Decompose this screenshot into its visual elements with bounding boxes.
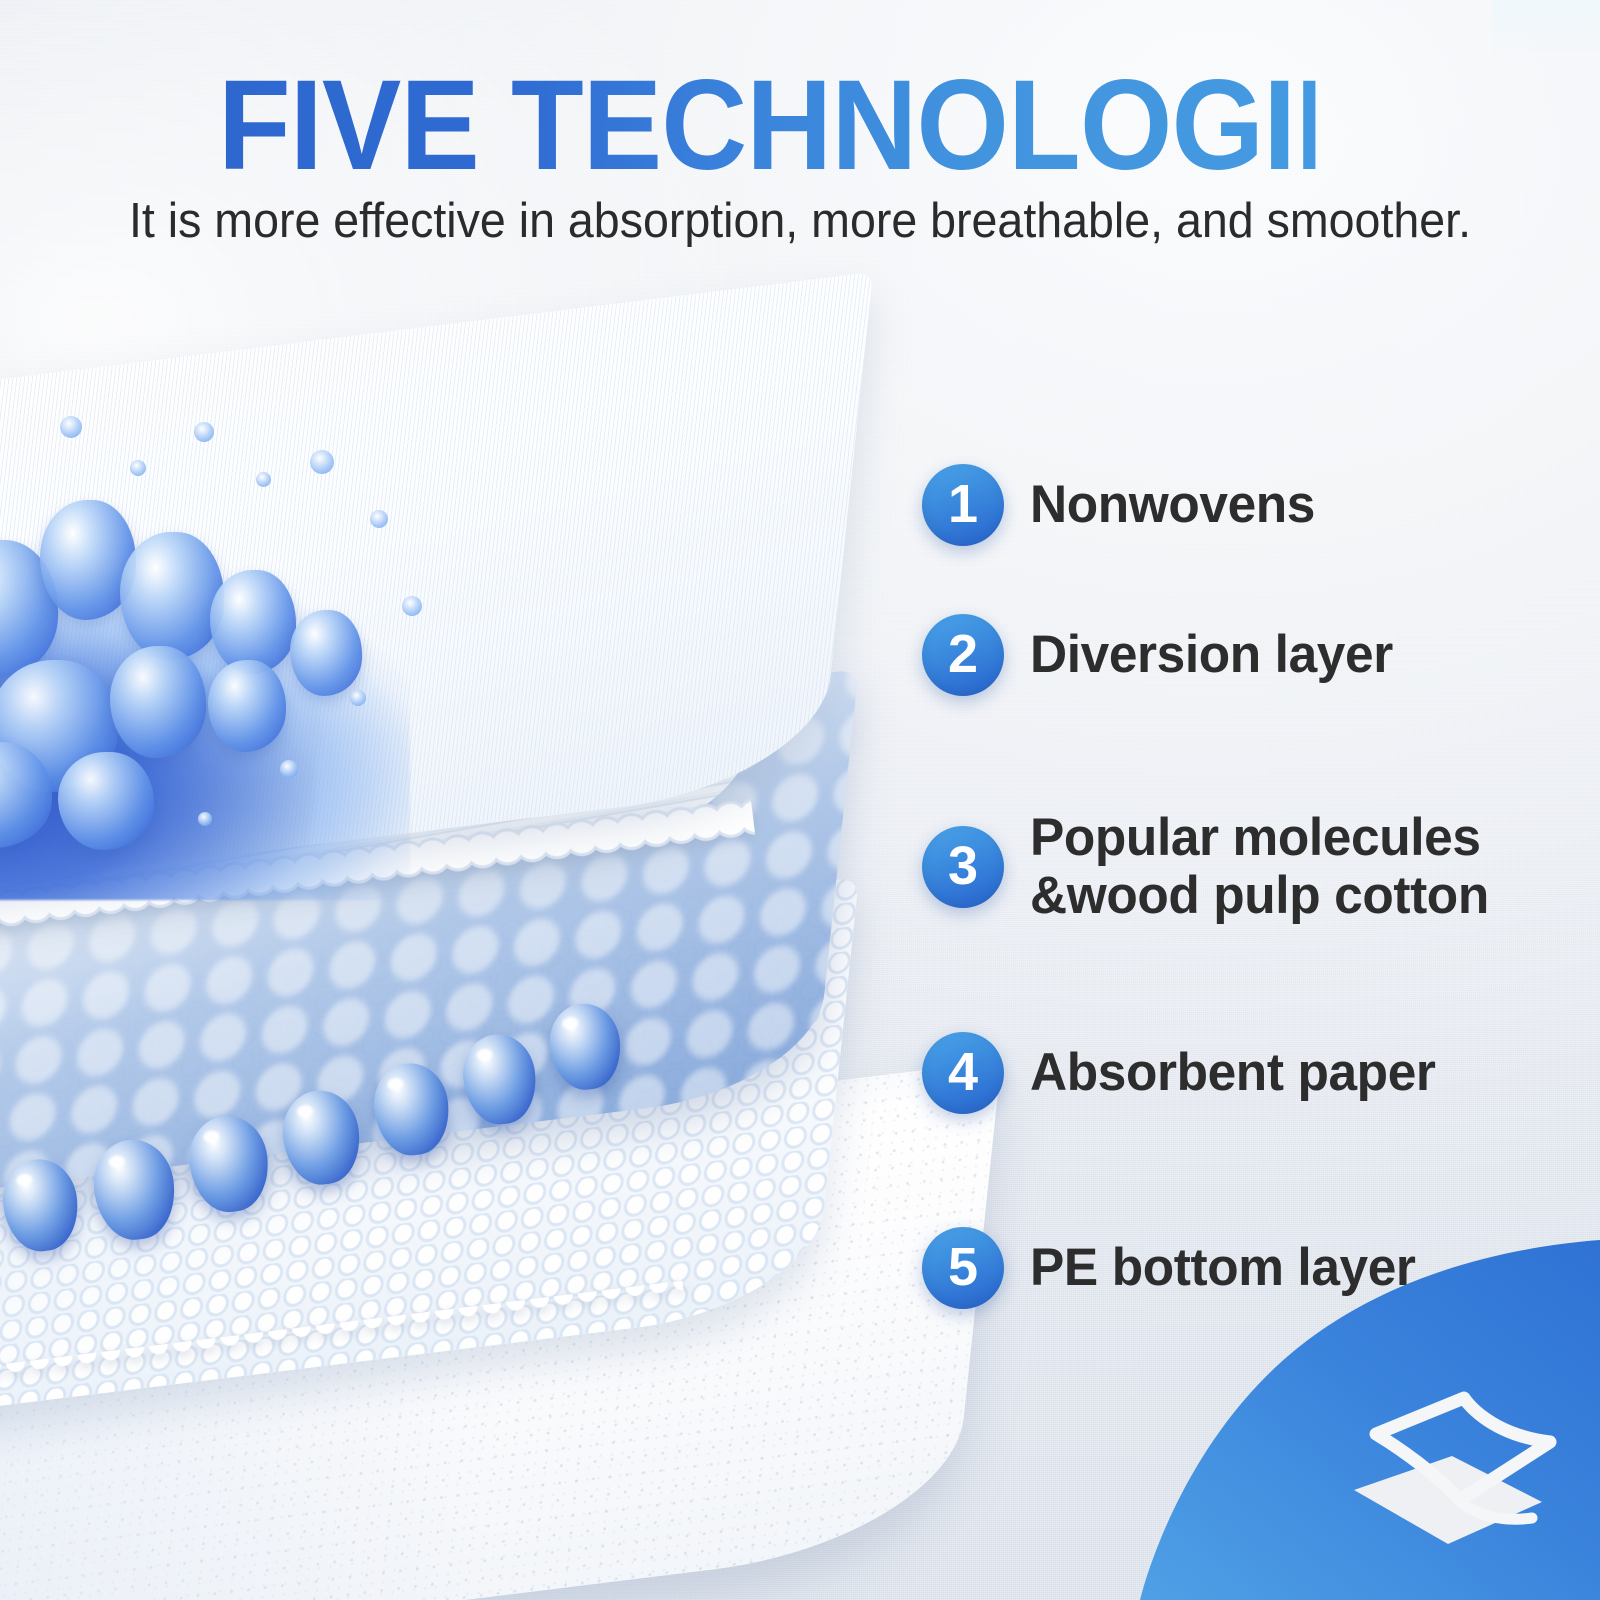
legend-number-badge-2: 2 — [922, 614, 1004, 696]
legend-label-2: Diversion layer — [1030, 626, 1393, 684]
legend-number-badge-3: 3 — [922, 826, 1004, 908]
water-blob — [210, 570, 296, 674]
water-droplet — [350, 690, 366, 706]
legend-label-4: Absorbent paper — [1030, 1044, 1436, 1102]
legend-item-diversion-layer[interactable]: 2 Diversion layer — [922, 614, 1404, 696]
legend-item-popular-molecules[interactable]: 3 Popular molecules &wood pulp cotton — [922, 809, 1503, 926]
legend-label-3: Popular molecules &wood pulp cotton — [1030, 809, 1489, 926]
gel-droplet — [184, 1112, 273, 1217]
water-blob — [120, 532, 224, 660]
legend-item-pe-bottom-layer[interactable]: 5 PE bottom layer — [922, 1227, 1427, 1309]
exploded-layer-stack-illustration — [0, 300, 1060, 1600]
legend-number-badge-4: 4 — [922, 1032, 1004, 1114]
legend-number-badge-5: 5 — [922, 1227, 1004, 1309]
water-blob — [208, 660, 286, 752]
water-droplet — [370, 510, 388, 528]
water-droplet — [194, 422, 214, 442]
gel-droplet — [278, 1086, 365, 1189]
legend-label-1: Nonwovens — [1030, 476, 1315, 534]
gel-droplet — [369, 1059, 454, 1159]
legend-label-5: PE bottom layer — [1030, 1239, 1416, 1297]
water-droplet — [130, 460, 146, 476]
gel-droplet — [0, 1155, 83, 1255]
infographic-poster: FIVE TECHNOLOGIES It is more effective i… — [0, 0, 1600, 1600]
legend-number-badge-1: 1 — [922, 464, 1004, 546]
water-droplet — [310, 450, 334, 474]
legend-item-nonwovens[interactable]: 1 Nonwovens — [922, 464, 1324, 546]
gel-droplet — [89, 1135, 181, 1244]
water-droplet — [280, 760, 298, 778]
water-splash-graphic — [0, 360, 550, 920]
water-blob — [110, 646, 206, 758]
water-droplet — [198, 812, 212, 826]
water-droplet — [256, 472, 271, 487]
water-droplet — [402, 596, 422, 616]
water-blob — [290, 610, 362, 696]
water-droplet — [60, 416, 82, 438]
water-blob — [58, 752, 154, 850]
technology-legend-list: 1 Nonwovens 2 Diversion layer 3 Popular … — [922, 0, 1600, 1600]
legend-item-absorbent-paper[interactable]: 4 Absorbent paper — [922, 1032, 1448, 1114]
